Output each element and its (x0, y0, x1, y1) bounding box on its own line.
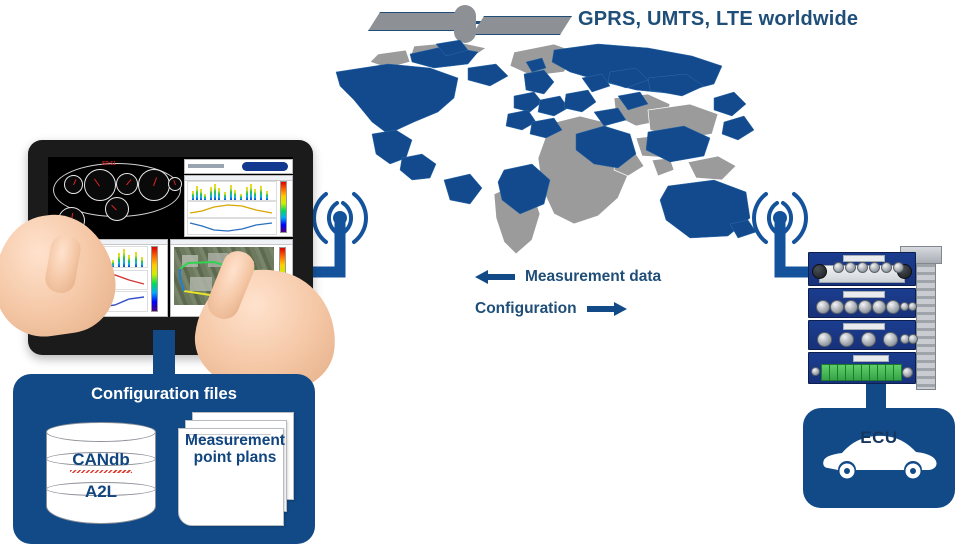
brand-plate (184, 159, 293, 174)
ecu-box: ECU (803, 408, 955, 508)
database-cylinder: CANdb A2L (46, 422, 156, 524)
db-label-a2l: A2L (46, 482, 156, 502)
config-box-title: Configuration files (13, 385, 315, 404)
db-top-ellipse (46, 422, 156, 442)
gauge-tachometer (138, 169, 170, 201)
hw-mounting-rail (916, 250, 936, 390)
spellcheck-underline (70, 470, 132, 473)
configuration-files-box: Configuration files CANdb A2L Measuremen… (13, 374, 315, 544)
ecu-label: ECU (803, 428, 955, 448)
page-title: GPRS, UMTS, LTE worldwide (578, 8, 858, 31)
configuration-flow: Configuration (475, 300, 627, 318)
gauge-6 (105, 197, 129, 221)
spectral-chart-top (184, 175, 293, 237)
gauge-1 (64, 175, 83, 194)
document-stack-label: Measurement point plans (180, 432, 290, 467)
cluster-readout: SP:51 (102, 161, 116, 167)
hw-layer-3 (808, 320, 916, 350)
hw-layer-2 (808, 288, 916, 318)
satellite-solar-panel-left (368, 12, 468, 31)
db-label-candb: CANdb (46, 450, 156, 470)
measurement-hardware-module (808, 250, 948, 390)
arrow-right-icon (587, 301, 627, 317)
measurement-data-flow: Measurement data (475, 268, 661, 286)
gauge-3 (116, 173, 138, 195)
measurement-data-label: Measurement data (525, 268, 661, 286)
arrow-left-icon (475, 269, 515, 285)
connector-tablet-to-config (153, 330, 175, 380)
gauge-speedometer (84, 169, 116, 201)
hw-layer-top (808, 252, 916, 286)
world-coverage-map (318, 38, 778, 266)
gauge-5 (168, 177, 182, 191)
document-stack: Measurement point plans (178, 412, 296, 528)
hw-layer-4 (808, 352, 916, 384)
satellite-solar-panel-right (472, 16, 572, 35)
configuration-label: Configuration (475, 300, 577, 318)
